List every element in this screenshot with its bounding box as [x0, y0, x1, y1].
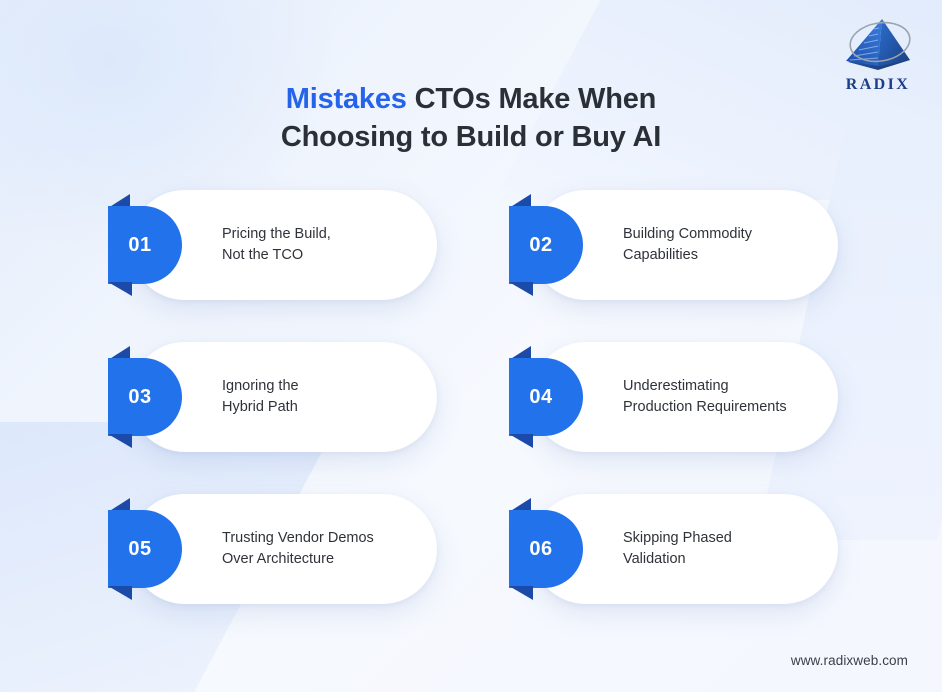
- footer-website-url[interactable]: www.radixweb.com: [791, 653, 908, 668]
- card-text-line-1: Ignoring the: [222, 376, 437, 397]
- mistake-card-06: Skipping Phased Validation 06: [505, 494, 838, 604]
- card-text-line-1: Trusting Vendor Demos: [222, 528, 437, 549]
- number-ribbon: 06: [505, 510, 583, 588]
- card-text-line-2: Not the TCO: [222, 245, 437, 266]
- number-ribbon: 01: [104, 206, 182, 284]
- card-text-line-1: Skipping Phased: [623, 528, 838, 549]
- ribbon-fold-bottom: [108, 282, 132, 296]
- page-title-accent-word: Mistakes: [286, 83, 407, 115]
- card-number: 06: [509, 510, 573, 588]
- card-number: 03: [108, 358, 172, 436]
- card-text-line-2: Over Architecture: [222, 549, 437, 570]
- page-title: Mistakes CTOs Make When Choosing to Buil…: [0, 80, 942, 156]
- mistake-card-05: Trusting Vendor Demos Over Architecture …: [104, 494, 437, 604]
- card-text-line-2: Production Requirements: [623, 397, 838, 418]
- card-text-line-2: Capabilities: [623, 245, 838, 266]
- page-title-line-1-rest: CTOs Make When: [407, 83, 656, 115]
- number-ribbon: 03: [104, 358, 182, 436]
- number-ribbon: 05: [104, 510, 182, 588]
- page-title-line-2: Choosing to Build or Buy AI: [0, 118, 942, 156]
- ribbon-fold-bottom: [509, 282, 533, 296]
- card-text-line-2: Validation: [623, 549, 838, 570]
- card-text-line-1: Pricing the Build,: [222, 224, 437, 245]
- card-text: Pricing the Build, Not the TCO: [222, 190, 437, 300]
- card-text: Ignoring the Hybrid Path: [222, 342, 437, 452]
- number-ribbon: 02: [505, 206, 583, 284]
- mistake-card-04: Underestimating Production Requirements …: [505, 342, 838, 452]
- ribbon-fold-bottom: [509, 434, 533, 448]
- card-text: Underestimating Production Requirements: [623, 342, 838, 452]
- radix-pyramid-logo-icon: [838, 16, 918, 72]
- number-ribbon: 04: [505, 358, 583, 436]
- page-title-line-1: Mistakes CTOs Make When: [0, 80, 942, 118]
- ribbon-fold-bottom: [108, 434, 132, 448]
- card-number: 04: [509, 358, 573, 436]
- mistake-card-02: Building Commodity Capabilities 02: [505, 190, 838, 300]
- card-text: Trusting Vendor Demos Over Architecture: [222, 494, 437, 604]
- mistakes-card-grid: Pricing the Build, Not the TCO 01 Buildi…: [104, 190, 838, 604]
- card-text-line-1: Underestimating: [623, 376, 838, 397]
- card-text-line-2: Hybrid Path: [222, 397, 437, 418]
- card-number: 01: [108, 206, 172, 284]
- card-number: 02: [509, 206, 573, 284]
- card-number: 05: [108, 510, 172, 588]
- mistake-card-01: Pricing the Build, Not the TCO 01: [104, 190, 437, 300]
- card-text-line-1: Building Commodity: [623, 224, 838, 245]
- card-text: Building Commodity Capabilities: [623, 190, 838, 300]
- ribbon-fold-bottom: [108, 586, 132, 600]
- card-text: Skipping Phased Validation: [623, 494, 838, 604]
- mistake-card-03: Ignoring the Hybrid Path 03: [104, 342, 437, 452]
- ribbon-fold-bottom: [509, 586, 533, 600]
- infographic-page: RADIX Mistakes CTOs Make When Choosing t…: [0, 0, 942, 692]
